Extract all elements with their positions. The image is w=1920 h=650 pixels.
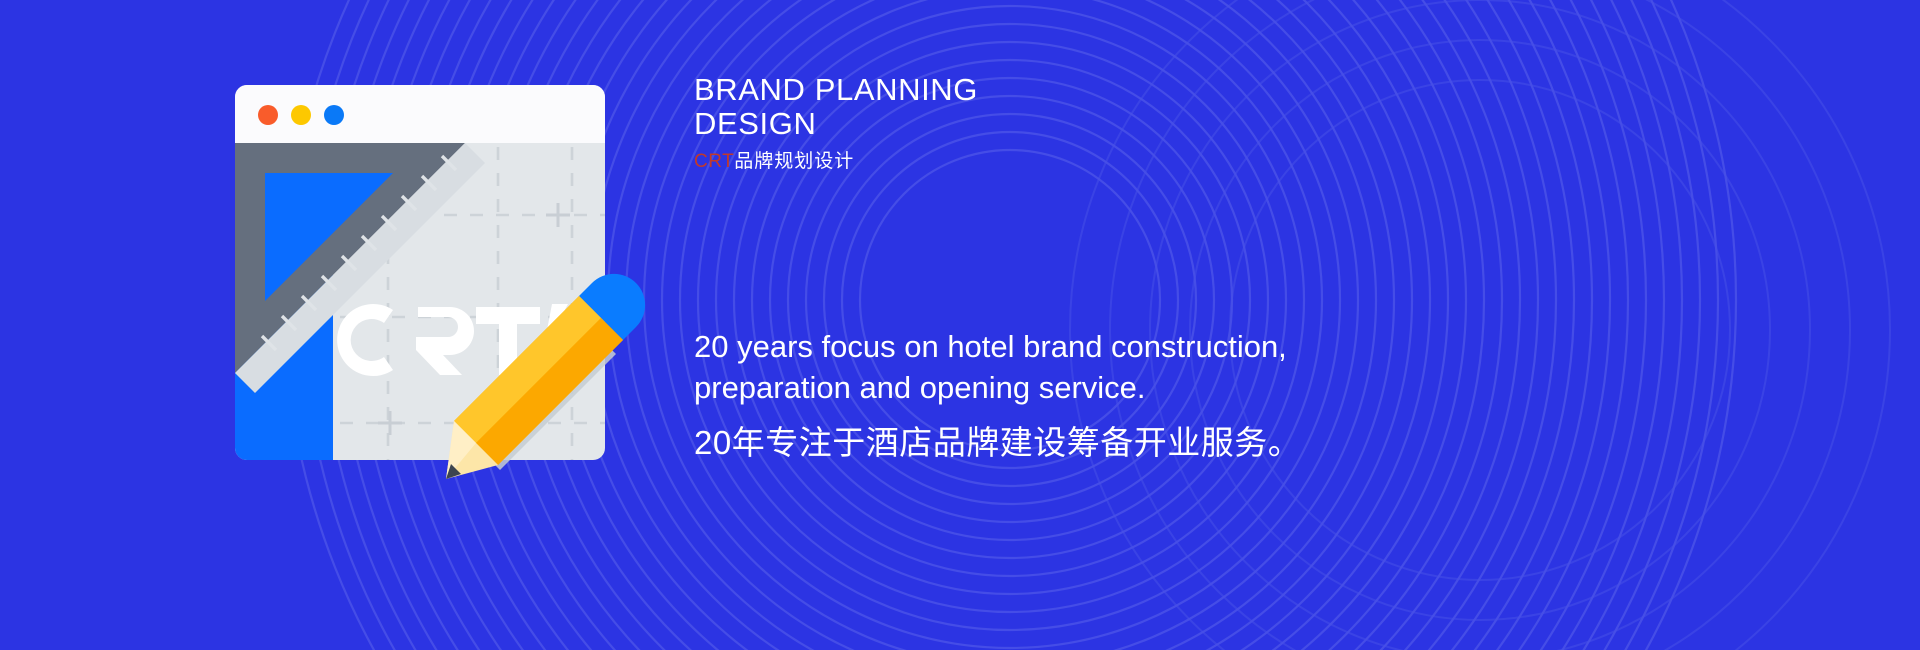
tagline-english: 20 years focus on hotel brand constructi… bbox=[694, 326, 1514, 408]
promo-banner: BRAND PLANNING DESIGN CRT品牌规划设计 20 years… bbox=[0, 0, 1920, 650]
brand-name-crt: CRT bbox=[694, 151, 734, 172]
heading-chinese-label: 品牌规划设计 bbox=[734, 151, 854, 172]
tagline-chinese: 20年专注于酒店品牌建设筹备开业服务。 bbox=[694, 422, 1514, 464]
heading-english: BRAND PLANNING DESIGN bbox=[694, 73, 1394, 141]
tagline-block: 20 years focus on hotel brand constructi… bbox=[694, 326, 1514, 464]
text-content: BRAND PLANNING DESIGN CRT品牌规划设计 20 years… bbox=[694, 0, 1794, 650]
minimize-dot bbox=[291, 105, 311, 125]
heading-chinese: CRT品牌规划设计 bbox=[694, 150, 1394, 174]
close-dot bbox=[258, 105, 278, 125]
heading-block: BRAND PLANNING DESIGN CRT品牌规划设计 bbox=[694, 73, 1394, 174]
browser-titlebar bbox=[235, 85, 605, 143]
brand-design-illustration bbox=[180, 55, 700, 505]
maximize-dot bbox=[324, 105, 344, 125]
